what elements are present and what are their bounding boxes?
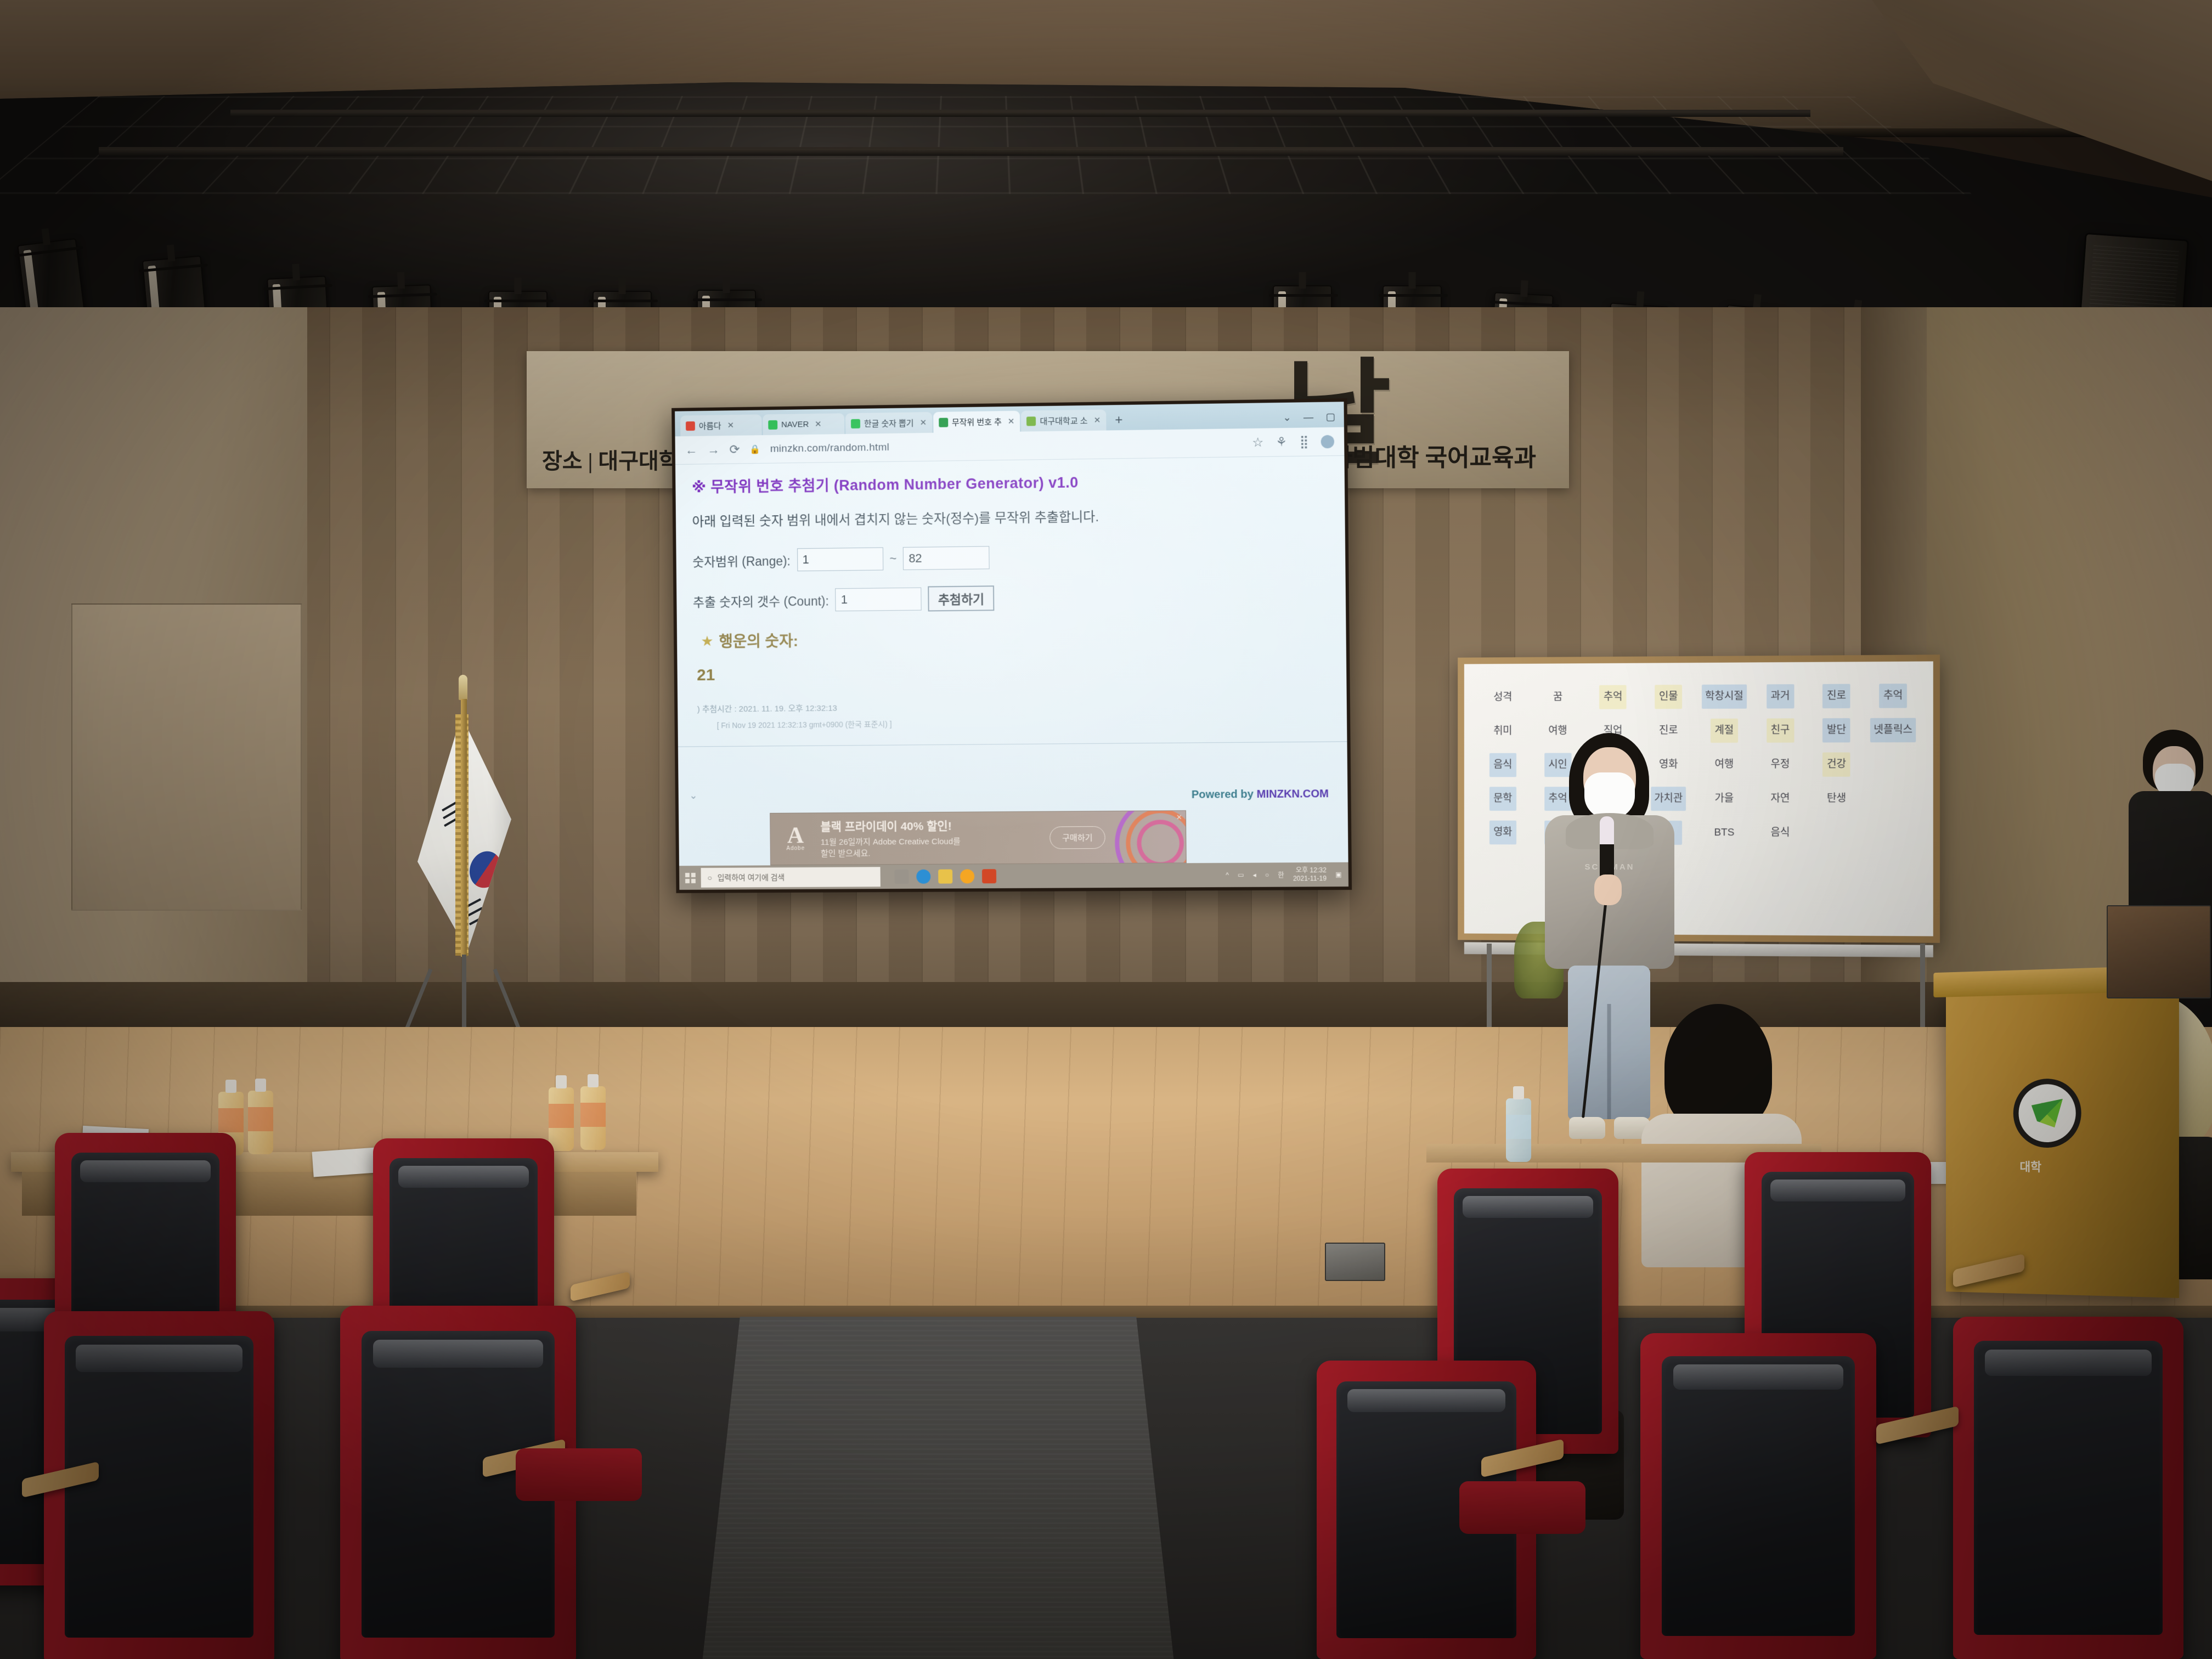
powered-brand: MINZKN.COM [1256, 788, 1329, 800]
sticky-note: 인물 [1655, 685, 1682, 709]
windows-taskbar: ○ 입력하여 여기에 검색 ^ ▭ ◂ ○ 한 오후 [679, 862, 1348, 890]
ad-cta-button[interactable]: 구매하기 [1049, 826, 1105, 849]
auditorium-seat[interactable] [44, 1311, 274, 1659]
cloud-icon[interactable]: ○ [1265, 871, 1269, 879]
lectern-podium: 대학 [1946, 984, 2179, 1298]
sticky-note: 여행 [1711, 753, 1738, 777]
taskbar-system-tray: ^ ▭ ◂ ○ 한 오후 12:32 2021-11-19 ▣ [1226, 866, 1348, 883]
tab-title: 한글 숫자 뽑기 [864, 417, 914, 429]
page-description: 아래 입력된 숫자 범위 내에서 겹치지 않는 숫자(정수)를 무작위 추출합니… [692, 503, 1328, 530]
daegu-university-logo-icon [2032, 1099, 2063, 1127]
juice-bottle [248, 1091, 273, 1154]
file-explorer-icon[interactable] [938, 870, 952, 884]
sticky-note: 음식 [1489, 753, 1516, 777]
chevron-down-icon[interactable]: ⌄ [1283, 412, 1291, 424]
clock-date: 2021-11-19 [1293, 874, 1327, 883]
sticky-note [1822, 821, 1850, 845]
sticky-note: BTS [1711, 821, 1738, 845]
whiteboard: 성격꿈추억인물학창시절과거진로추억취미여행직업진로계절친구발단넷플릭스음식시인추… [1458, 654, 1940, 943]
sticky-note: 건강 [1822, 752, 1850, 776]
lock-icon: 🔒 [749, 444, 760, 455]
tab-title: 아름다 [699, 420, 721, 431]
powered-by-label: Powered by MINZKN.COM [1192, 788, 1329, 802]
windows-logo-icon [685, 873, 695, 883]
sticky-note: 음식 [1767, 821, 1794, 845]
sticky-note: 넷플릭스 [1870, 718, 1916, 743]
clock-time: 오후 12:32 [1293, 866, 1327, 874]
browser-tab-1[interactable]: NAVER ✕ [763, 413, 844, 435]
tab-title: NAVER [781, 420, 809, 430]
powered-prefix: Powered by [1192, 788, 1257, 801]
auditorium-photo: 날 장소 | 대구대학 ㄴ 사범대학 국어교육과 아름다 ✕ NAVER ✕ [0, 0, 2212, 1659]
podium-label: 대학 [2019, 1158, 2041, 1175]
browser-tab-2[interactable]: 한글 숫자 뽑기 ✕ [845, 412, 932, 434]
powerpoint-icon[interactable] [982, 869, 996, 883]
minimize-icon[interactable]: — [1304, 411, 1313, 423]
range-separator: ~ [889, 551, 896, 566]
taeguk-symbol [465, 845, 506, 894]
tab-favicon [686, 421, 695, 431]
sticky-note-grid: 성격꿈추억인물학창시절과거진로추억취미여행직업진로계절친구발단넷플릭스음식시인추… [1464, 661, 1933, 936]
adobe-logo-icon: A Adobe [779, 822, 812, 855]
forward-icon[interactable]: → [707, 442, 720, 457]
rng-page: ※ 무작위 번호 추첨기 (Random Number Generator) v… [675, 456, 1348, 866]
result-heading: ★ 행운의 숫자: [701, 624, 1329, 652]
sticky-note: 추억 [1879, 684, 1907, 708]
ad-headline: 블랙 프라이데이 40% 할인! [820, 817, 960, 834]
taskbar-search-input[interactable]: ○ 입력하여 여기에 검색 [701, 867, 880, 888]
left-wall-panel [71, 603, 302, 911]
count-input[interactable]: 1 [836, 588, 922, 612]
sticky-note: 영화 [1489, 821, 1516, 845]
tab-favicon [768, 420, 777, 429]
adobe-wordmark: Adobe [786, 846, 805, 852]
star-icon: ★ [701, 633, 713, 650]
notification-icon[interactable]: ▣ [1335, 871, 1342, 878]
scroll-caret-icon[interactable]: ⌄ [689, 790, 697, 802]
internet-explorer-icon[interactable] [916, 870, 930, 884]
auditorium-seat[interactable] [1640, 1333, 1876, 1659]
sticky-note: 자연 [1767, 787, 1794, 811]
sticky-note [1879, 787, 1907, 811]
count-row: 추출 숫자의 갯수 (Count): 1 추첨하기 [693, 582, 1329, 614]
tab-favicon [939, 417, 948, 427]
sticky-note: 발단 [1822, 718, 1850, 742]
sticky-note [1879, 752, 1907, 776]
sticky-note: 꿈 [1544, 685, 1571, 709]
window-controls: ⌄ — ▢ [1274, 411, 1344, 428]
avatar[interactable] [1321, 435, 1335, 448]
taskbar-clock[interactable]: 오후 12:32 2021-11-19 [1293, 866, 1327, 883]
sticky-note: 진로 [1822, 684, 1850, 708]
range-min-input[interactable]: 1 [797, 548, 883, 572]
truss-beam [99, 147, 1843, 156]
korean-flag-stand [379, 675, 543, 1070]
tab-close-icon[interactable]: ✕ [727, 420, 734, 430]
ad-subline-1: 11월 26일까지 Adobe Creative Cloud를 [821, 837, 961, 849]
draw-button[interactable]: 추첨하기 [928, 585, 995, 611]
audience-hair [1664, 1004, 1772, 1130]
whiteboard-surface: 성격꿈추억인물학창시절과거진로추억취미여행직업진로계절친구발단넷플릭스음식시인추… [1464, 661, 1933, 936]
sticky-note: 가을 [1711, 787, 1738, 811]
search-icon: ○ [707, 873, 712, 882]
tab-close-icon[interactable]: ✕ [1094, 415, 1101, 425]
draw-timestamp-korean: ) 추첨시간 : 2021. 11. 19. 오후 12:32:13 [697, 698, 1330, 715]
search-placeholder: 입력하여 여기에 검색 [718, 872, 785, 883]
presenter-hand [1594, 874, 1622, 905]
sticky-note: 탄생 [1822, 787, 1850, 811]
ad-subline-2: 할인 받으세요. [821, 848, 961, 860]
juice-bottle [549, 1087, 574, 1151]
university-emblem [2013, 1079, 2081, 1148]
floor-equipment-box [1325, 1243, 1385, 1281]
tray-chevron-icon[interactable]: ^ [1226, 871, 1229, 879]
start-button[interactable] [679, 866, 701, 890]
sticky-note [1879, 821, 1907, 845]
network-icon[interactable]: ▭ [1238, 871, 1244, 879]
sticky-note: 취미 [1489, 719, 1516, 743]
url-bar[interactable]: minzkn.com/random.html [770, 441, 889, 455]
sticky-note: 우정 [1767, 753, 1794, 777]
projection-screen: 아름다 ✕ NAVER ✕ 한글 숫자 뽑기 ✕ 무작위 번호 추 ✕ [672, 398, 1352, 893]
maximize-icon[interactable]: ▢ [1325, 411, 1335, 423]
new-tab-button[interactable]: + [1107, 413, 1130, 431]
result-label: 행운의 숫자: [719, 629, 798, 652]
tab-title: 무작위 번호 추 [952, 416, 1002, 428]
truss-beam [230, 110, 1810, 117]
water-bottle [1506, 1098, 1531, 1162]
ime-icon[interactable]: 한 [1278, 870, 1284, 879]
range-max-input[interactable]: 82 [903, 546, 990, 570]
result-value: 21 [697, 661, 1330, 685]
sticky-note: 문학 [1489, 787, 1516, 811]
adobe-ad-banner[interactable]: A Adobe 블랙 프라이데이 40% 할인! 11월 26일까지 Adobe… [770, 810, 1187, 865]
aisle-carpet [702, 1317, 1174, 1659]
google-chrome-icon[interactable] [960, 869, 974, 883]
tab-close-icon[interactable]: ✕ [1008, 416, 1015, 426]
sticky-note: 친구 [1767, 718, 1794, 742]
count-label: 추출 숫자의 갯수 (Count): [693, 591, 829, 611]
sticky-note: 계절 [1711, 719, 1738, 743]
tab-title: 대구대학교 소 [1040, 414, 1087, 426]
tab-favicon [851, 419, 860, 428]
page-title: ※ 무작위 번호 추첨기 (Random Number Generator) v… [692, 467, 1328, 496]
browser-tab-4[interactable]: 대구대학교 소 ✕ [1021, 409, 1106, 431]
seat-cushion [1459, 1481, 1585, 1534]
auditorium-seat[interactable] [1953, 1317, 2183, 1659]
sticky-note: 성격 [1489, 686, 1516, 710]
presenter-shoe [1569, 1117, 1605, 1139]
range-row: 숫자범위 (Range): 1 ~ 82 [692, 542, 1329, 572]
banner-venue-text: 장소 | 대구대학 [542, 443, 679, 475]
tab-close-icon[interactable]: ✕ [919, 417, 927, 427]
page-divider [678, 741, 1347, 747]
ad-close-icon[interactable]: ✕ [1176, 813, 1182, 822]
tab-close-icon[interactable]: ✕ [815, 419, 822, 429]
bookmark-star-icon[interactable]: ☆ [1252, 435, 1263, 450]
menu-icon[interactable]: ⣿ [1299, 435, 1308, 449]
flag-finial [459, 675, 467, 700]
side-furniture [2107, 905, 2211, 998]
adobe-a-glyph: A [787, 826, 804, 846]
creative-cloud-swirl-icon [1097, 810, 1187, 865]
browser-tab-0[interactable]: 아름다 ✕ [680, 414, 762, 436]
projected-desktop: 아름다 ✕ NAVER ✕ 한글 숫자 뽑기 ✕ 무작위 번호 추 ✕ [675, 402, 1348, 890]
sticky-note: 과거 [1767, 684, 1794, 708]
sticky-note: 학창시절 [1702, 685, 1747, 709]
taskview-icon[interactable] [894, 870, 909, 884]
omnibar-actions: ☆ ⚘ ⣿ [1252, 434, 1334, 450]
taskbar-app-icons [881, 869, 997, 884]
draw-timestamp-iso: [ Fri Nov 19 2021 12:32:13 gmt+0900 (한국 … [717, 715, 1330, 731]
seat-cushion [516, 1448, 642, 1501]
tab-favicon [1026, 416, 1036, 426]
reload-icon[interactable]: ⟳ [729, 442, 740, 457]
back-icon[interactable]: ← [685, 443, 697, 458]
volume-icon[interactable]: ◂ [1253, 871, 1256, 879]
extensions-icon[interactable]: ⚘ [1276, 435, 1287, 449]
flag-pole [461, 699, 467, 957]
range-label: 숫자범위 (Range): [692, 551, 791, 571]
ad-copy: 블랙 프라이데이 40% 할인! 11월 26일까지 Adobe Creativ… [820, 817, 961, 860]
juice-bottle [580, 1086, 606, 1150]
sticky-note: 추억 [1599, 685, 1627, 709]
browser-tab-3-active[interactable]: 무작위 번호 추 ✕ [933, 411, 1020, 433]
